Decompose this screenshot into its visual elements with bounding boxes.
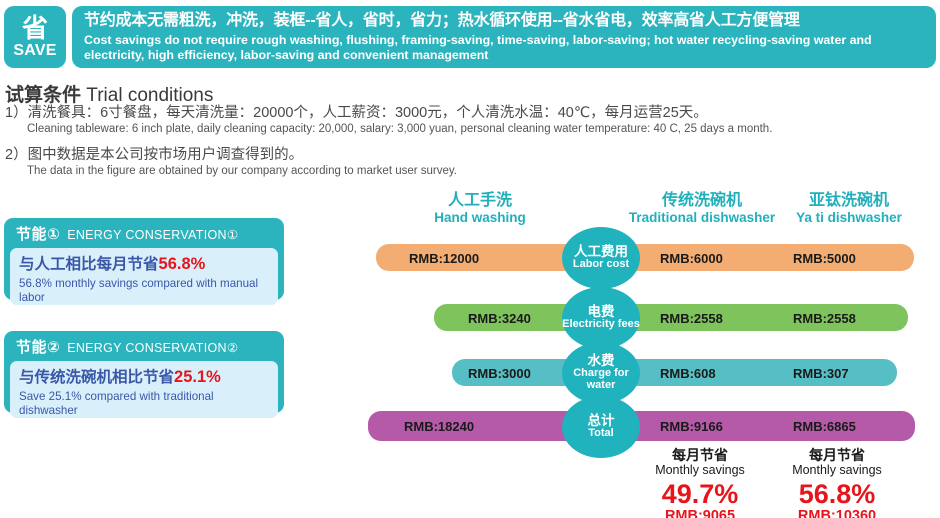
energy-conservation-2-sub: Save 25.1% compared with traditional dis… [19, 390, 270, 418]
energy-conservation-1-header: 节能① ENERGY CONSERVATION① [10, 223, 278, 248]
save-badge-cn: 省 [22, 15, 48, 42]
column-header-2-cn: 亚钛洗碗机 [760, 192, 938, 210]
condition-1-text-cn: 清洗餐具：6寸餐盘，每天清洗量：20000个，人工薪资：3000元，个人清洗水温… [28, 105, 708, 121]
bar-value-electricity-hand: RMB:3240 [468, 311, 531, 326]
bar-value-total-traditional: RMB:9166 [660, 419, 723, 434]
bar-value-water-hand: RMB:3000 [468, 366, 531, 381]
monthly-savings-0-rmb: RMB:9065 [625, 509, 775, 518]
energy-conservation-2-percent: 25.1% [174, 368, 221, 386]
monthly-savings-1-percent: 56.8% [762, 479, 912, 509]
energy-conservation-2-panel: 与传统洗碗机相比节省25.1% Save 25.1% compared with… [10, 361, 278, 418]
monthly-savings-1-rmb: RMB:10360 [762, 509, 912, 518]
condition-1-en: Cleaning tableware: 6 inch plate, daily … [27, 122, 772, 136]
row-circle-labor-cost: 人工费用 Labor cost [562, 227, 640, 289]
energy-conservation-1-main: 与人工相比每月节省56.8% [19, 253, 270, 276]
bar-value-electricity-traditional: RMB:2558 [660, 311, 723, 326]
bar-value-labor-cost-hand: RMB:12000 [409, 251, 479, 266]
row-circle-labor-cost-en: Labor cost [573, 259, 629, 271]
condition-2-cn: 2）图中数据是本公司按市场用户调查得到的。 [5, 146, 457, 164]
row-circle-water-cn: 水费 [588, 354, 615, 369]
row-circle-electricity-cn: 电费 [588, 305, 615, 320]
row-circle-electricity-en: Electricity fees [562, 319, 640, 331]
condition-item-1: 1）清洗餐具：6寸餐盘，每天清洗量：20000个，人工薪资：3000元，个人清洗… [5, 104, 772, 137]
bar-value-total-hand: RMB:18240 [404, 419, 474, 434]
bar-value-labor-cost-traditional: RMB:6000 [660, 251, 723, 266]
row-circle-total-en: Total [588, 428, 613, 440]
bar-value-electricity-yati: RMB:2558 [793, 311, 856, 326]
condition-1-cn: 1）清洗餐具：6寸餐盘，每天清洗量：20000个，人工薪资：3000元，个人清洗… [5, 104, 772, 122]
row-circle-charge-for-water: 水费 Charge for water [562, 342, 640, 404]
energy-conservation-1-head-en: ENERGY CONSERVATION① [67, 227, 238, 242]
energy-conservation-2-main: 与传统洗碗机相比节省25.1% [19, 366, 270, 389]
save-badge: 省 SAVE [4, 6, 66, 68]
column-header-yati-dishwasher: 亚钛洗碗机 Ya ti dishwasher [760, 192, 938, 227]
row-circle-total-cn: 总计 [588, 414, 615, 429]
energy-conservation-1-percent: 56.8% [159, 255, 206, 273]
monthly-savings-0-percent: 49.7% [625, 479, 775, 509]
row-circle-electricity-fees: 电费 Electricity fees [562, 287, 640, 349]
monthly-savings-1-en: Monthly savings [762, 463, 912, 479]
page-title: 试算条件 Trial conditions [5, 80, 213, 107]
column-header-0-en: Hand washing [395, 210, 565, 226]
column-header-2-en: Ya ti dishwasher [760, 210, 938, 226]
bar-value-water-yati: RMB:307 [793, 366, 849, 381]
bar-value-labor-cost-yati: RMB:5000 [793, 251, 856, 266]
trial-title-cn: 试算条件 [5, 85, 81, 106]
condition-item-2: 2）图中数据是本公司按市场用户调查得到的。 The data in the fi… [5, 146, 457, 179]
trial-title-en: Trial conditions [86, 85, 213, 106]
energy-conservation-box-2: 节能② ENERGY CONSERVATION② 与传统洗碗机相比节省25.1%… [4, 331, 284, 413]
condition-2-text-cn: 图中数据是本公司按市场用户调查得到的。 [28, 147, 304, 163]
bar-value-water-traditional: RMB:608 [660, 366, 716, 381]
monthly-savings-0-en: Monthly savings [625, 463, 775, 479]
energy-conservation-1-sub: 56.8% monthly savings compared with manu… [19, 277, 270, 305]
monthly-savings-traditional: 每月节省 Monthly savings 49.7% RMB:9065 [625, 448, 775, 518]
energy-conservation-1-head-cn: 节能① [16, 223, 60, 244]
energy-conservation-2-head-cn: 节能② [16, 336, 60, 357]
row-circle-labor-cost-cn: 人工费用 [574, 245, 628, 260]
energy-conservation-2-main-prefix: 与传统洗碗机相比节省 [19, 369, 174, 386]
bar-value-total-yati: RMB:6865 [793, 419, 856, 434]
condition-2-marker: 2） [5, 147, 28, 163]
monthly-savings-0-cn: 每月节省 [625, 448, 775, 463]
condition-1-marker: 1） [5, 105, 28, 121]
monthly-savings-yati: 每月节省 Monthly savings 56.8% RMB:10360 [762, 448, 912, 518]
column-header-hand-washing: 人工手洗 Hand washing [395, 192, 565, 227]
save-badge-en: SAVE [13, 42, 56, 60]
energy-conservation-box-1: 节能① ENERGY CONSERVATION① 与人工相比每月节省56.8% … [4, 218, 284, 300]
banner-body: 节约成本无需粗洗，冲洗，装框--省人，省时，省力；热水循环使用--省水省电，效率… [72, 6, 936, 68]
energy-conservation-2-header: 节能② ENERGY CONSERVATION② [10, 336, 278, 361]
condition-2-en: The data in the figure are obtained by o… [27, 164, 457, 178]
column-header-0-cn: 人工手洗 [395, 192, 565, 210]
infographic-root: 省 SAVE 节约成本无需粗洗，冲洗，装框--省人，省时，省力；热水循环使用--… [0, 0, 940, 518]
energy-conservation-2-head-en: ENERGY CONSERVATION② [67, 340, 238, 355]
energy-conservation-1-main-prefix: 与人工相比每月节省 [19, 256, 159, 273]
row-circle-water-en: Charge for water [562, 368, 640, 392]
monthly-savings-1-cn: 每月节省 [762, 448, 912, 463]
energy-conservation-1-panel: 与人工相比每月节省56.8% 56.8% monthly savings com… [10, 248, 278, 305]
banner-headline-en: Cost savings do not require rough washin… [84, 33, 926, 63]
banner-headline-cn: 节约成本无需粗洗，冲洗，装框--省人，省时，省力；热水循环使用--省水省电，效率… [84, 10, 926, 32]
